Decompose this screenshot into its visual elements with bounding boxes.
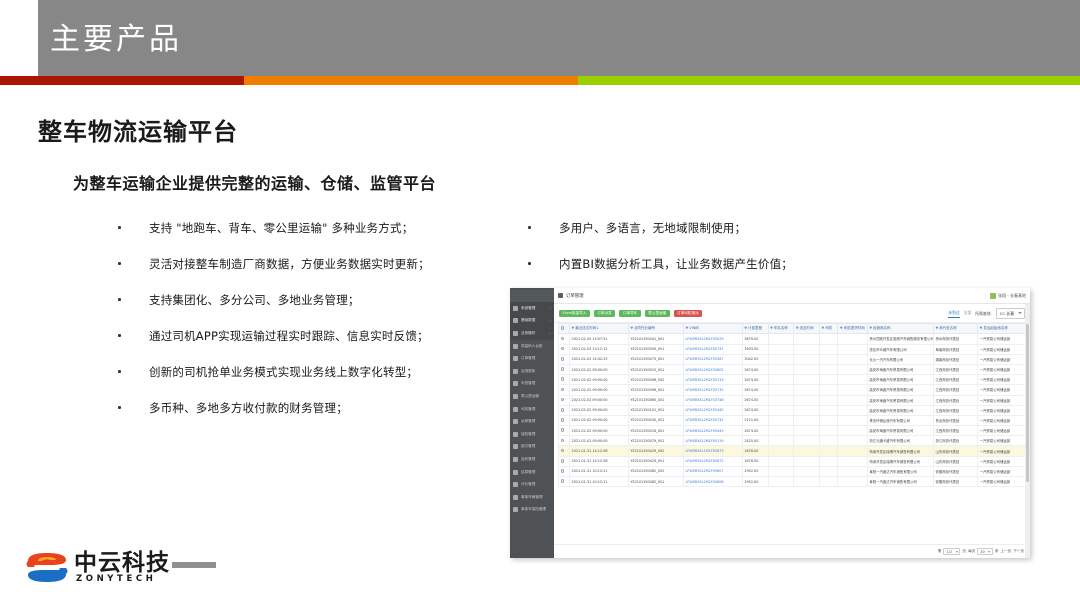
sidebar-group-0[interactable]: 系统管理‹ xyxy=(510,302,554,315)
row-select-cell[interactable] xyxy=(559,375,570,385)
cell-vin: LFWSRXSL2M1F05606 xyxy=(684,477,743,487)
zonytech-logo-icon xyxy=(26,552,68,583)
orders-table: ▼最近送达时间↓▼合同作业编号▼VIN码▼计费里程▼车队名称▼送至时间▼司机▼司… xyxy=(558,323,1026,487)
row-select-cell[interactable] xyxy=(559,344,570,354)
cell-empty xyxy=(838,385,867,395)
column-header-label: 最近送达时间↓ xyxy=(575,326,599,330)
slide-root: 主要产品 整车物流运输平台 为整车运输企业提供完整的运输、仓储、监管平台 支持 … xyxy=(0,0,1080,608)
cell-empty xyxy=(820,446,838,456)
bullet-text: 灵活对接整车制造厂商数据，方便业务数据实时更新； xyxy=(149,257,430,271)
table-row[interactable]: 2021-02-02 09:00:00YS2101250016_001LFWSR… xyxy=(559,426,1026,436)
cell-empty xyxy=(768,477,794,487)
table-row[interactable]: 2021-02-02 09:00:00YS2101250060_001LFWSR… xyxy=(559,395,1026,405)
row-select-cell[interactable] xyxy=(559,405,570,415)
select-all-header[interactable] xyxy=(559,324,570,334)
cell-dealer: 高安市海鑫汽车贸易有限公司 xyxy=(867,426,933,436)
cell-empty xyxy=(768,466,794,476)
tab-all[interactable]: 全部 xyxy=(964,310,972,318)
cell-vin: LFWSRXSL2M1F03602 xyxy=(684,364,743,374)
cell-contract: YS2101250429_002 xyxy=(628,446,683,456)
row-select-icon[interactable] xyxy=(561,377,565,381)
accent-bar-red xyxy=(0,76,244,85)
sidebar-item-7[interactable]: 保险管理 xyxy=(510,428,554,441)
cell-vin: LFWSRXSL2M1F03748 xyxy=(684,395,743,405)
filter-icon[interactable]: ▼ xyxy=(630,326,633,330)
sidebar-group-label: 业务操作 xyxy=(521,331,535,336)
app-screenshot: 系统管理‹基础数据‹业务操作⌄ 质量码人台账订单管理运堆更新车批管理零公里运输司… xyxy=(510,288,1030,558)
cell-time: 2021-02-05 15:07:51 xyxy=(570,334,629,344)
chevron-icon: ‹ xyxy=(550,319,551,323)
cell-empty xyxy=(820,364,838,374)
sidebar-item-2[interactable]: 运堆更新 xyxy=(510,365,554,378)
cell-empty xyxy=(838,456,867,466)
cell-contract: YS2101250096_001 xyxy=(628,385,683,395)
cell-empty xyxy=(768,364,794,374)
sidebar-item-label: 司机管理 xyxy=(521,407,535,412)
row-select-cell[interactable] xyxy=(559,436,570,446)
cell-empty xyxy=(838,415,867,425)
row-select-icon[interactable] xyxy=(561,357,565,361)
cell-empty xyxy=(838,334,867,344)
table-row[interactable]: 2021-02-02 09:00:00YS2101250101_001LFWSR… xyxy=(559,405,1026,415)
cell-km: 2674.00 xyxy=(742,426,768,436)
cell-km: 2674.00 xyxy=(742,395,768,405)
toolbar-button-1[interactable]: 订单派发 xyxy=(594,310,615,318)
sidebar-item-label: 质量码人台账 xyxy=(521,344,543,349)
cell-empty xyxy=(794,446,820,456)
sidebar-group-icon xyxy=(513,318,518,323)
bullet-dot xyxy=(118,370,121,373)
cell-contract: YS2101250016_001 xyxy=(628,426,683,436)
filter-icon[interactable]: ▼ xyxy=(980,326,983,330)
cell-agent: 安徽商务代表处 xyxy=(934,477,978,487)
filter-icon[interactable]: ▼ xyxy=(936,326,939,330)
sidebar-item-8[interactable]: 赔付管理 xyxy=(510,441,554,454)
cell-dealer: 高安市海鑫汽车贸易有限公司 xyxy=(867,364,933,374)
cell-vin: LFWSRXSL2M1F05449 xyxy=(684,426,743,436)
cell-dealer: 茂名市众威汽车有限公司 xyxy=(867,344,933,354)
sidebar-item-label: 运堆更新 xyxy=(521,369,535,374)
cell-vin: LFWSRXSL2M1F05440 xyxy=(684,405,743,415)
column-header-1[interactable]: ▼合同作业编号 xyxy=(628,324,683,334)
cell-agent: 江西商务代表处 xyxy=(934,375,978,385)
row-select-icon[interactable] xyxy=(561,367,565,371)
cell-time: 2021-02-02 09:00:00 xyxy=(570,426,629,436)
row-select-icon[interactable] xyxy=(561,418,565,422)
bullet-item: 内置BI数据分析工具，让业务数据产生价值； xyxy=(528,257,908,271)
sidebar-item-label: 保险管理 xyxy=(521,432,535,437)
sidebar-item-4[interactable]: 零公里运输 xyxy=(510,390,554,403)
table-row[interactable]: 2021-02-02 09:00:00YS2101250015_001LFWSR… xyxy=(559,364,1026,374)
cell-km: 1952.00 xyxy=(742,466,768,476)
sidebar-item-icon xyxy=(513,356,518,361)
toolbar-button-4[interactable]: 订单司机指派 xyxy=(674,310,703,318)
sidebar-item-11[interactable]: 评价管理 xyxy=(510,478,554,491)
pg-prefix: 第 xyxy=(938,549,942,554)
cell-time: 2021-02-03 14:32:25 xyxy=(570,354,629,364)
cell-km: 3042.00 xyxy=(742,354,768,364)
cell-origin: 一汽贸易公司储运部 xyxy=(978,415,1026,425)
cell-origin: 一汽贸易公司储运部 xyxy=(978,395,1026,405)
column-header-label: 司机提货时间 xyxy=(844,326,865,330)
column-header-label: 送至时间 xyxy=(800,326,814,330)
sidebar-item-label: 结算管理 xyxy=(521,470,535,475)
row-select-cell[interactable] xyxy=(559,426,570,436)
bullet-item: 灵活对接整车制造厂商数据，方便业务数据实时更新； xyxy=(118,257,498,271)
cell-dealer: 阜阳一汽鑫达汽车销售有限公司 xyxy=(867,477,933,487)
cell-dealer: 高安市海鑫汽车贸易有限公司 xyxy=(867,385,933,395)
avatar[interactable] xyxy=(990,293,996,299)
cell-empty xyxy=(794,364,820,374)
page-size-select[interactable]: 30 xyxy=(977,548,993,555)
column-header-0[interactable]: ▼最近送达时间↓ xyxy=(570,324,629,334)
cell-dealer: 菏泽开发区瑞博汽车销售有限公司 xyxy=(867,456,933,466)
filter-icon[interactable]: ▼ xyxy=(744,326,747,330)
cell-origin: 一汽贸易公司储运部 xyxy=(978,477,1026,487)
column-header-label: 司机 xyxy=(825,326,832,330)
bullet-item: 通过司机APP实现运输过程实时跟踪、信息实时反馈； xyxy=(118,329,498,343)
select-all-icon[interactable] xyxy=(561,326,565,330)
cell-empty xyxy=(794,354,820,364)
column-header-8[interactable]: ▼经销商名称 xyxy=(867,324,933,334)
row-select-icon[interactable] xyxy=(561,408,565,412)
cell-empty xyxy=(768,354,794,364)
cell-empty xyxy=(838,375,867,385)
row-select-cell[interactable] xyxy=(559,415,570,425)
tab-undelivered[interactable]: 未到达 xyxy=(948,310,959,318)
table-row[interactable]: 2021-02-03 14:32:25YS2101250475_001LFWSR… xyxy=(559,354,1026,364)
cell-vin: LFWSRXSL2M1F05587 xyxy=(684,354,743,364)
cell-dealer: 青岛环储弘驰汽车有限公司 xyxy=(867,415,933,425)
toolbar-button-3[interactable]: 零公里运输 xyxy=(645,310,670,318)
logo-text-cn: 中云科技 xyxy=(74,551,170,575)
cell-empty xyxy=(820,477,838,487)
cell-empty xyxy=(838,354,867,364)
row-select-icon[interactable] xyxy=(561,398,565,402)
sidebar-item-label: 运单管理 xyxy=(521,419,535,424)
cell-origin: 一汽贸易公司储运部 xyxy=(978,334,1026,344)
table-row[interactable]: 2021-02-05 15:07:51YS2101250041_001LFWSR… xyxy=(559,334,1026,344)
cell-empty xyxy=(794,466,820,476)
cell-contract: YS2101250430_001 xyxy=(628,415,683,425)
cell-agent: 山东商务代表处 xyxy=(934,446,978,456)
cell-empty xyxy=(768,415,794,425)
sidebar-item-icon xyxy=(513,444,518,449)
cell-empty xyxy=(768,405,794,415)
sidebar-item-icon xyxy=(513,495,518,500)
sidebar-item-9[interactable]: 返利管理 xyxy=(510,453,554,466)
bullet-dot xyxy=(118,262,121,265)
row-select-icon[interactable] xyxy=(561,449,565,453)
cell-km: 1952.00 xyxy=(742,477,768,487)
cell-km: 2674.00 xyxy=(742,385,768,395)
cell-agent: 鲁北商务代表处 xyxy=(934,415,978,425)
sidebar-item-label: 事故车保险管理 xyxy=(521,507,546,512)
cell-origin: 一汽贸易公司储运部 xyxy=(978,385,1026,395)
cell-time: 2021-01-31 10:12:21 xyxy=(570,466,629,476)
cell-contract: YS2101250059_001 xyxy=(628,344,683,354)
cell-km: 2674.00 xyxy=(742,375,768,385)
cell-time: 2021-02-02 09:00:00 xyxy=(570,375,629,385)
app-sidebar: 系统管理‹基础数据‹业务操作⌄ 质量码人台账订单管理运堆更新车批管理零公里运输司… xyxy=(510,288,554,558)
column-header-label: VIN码 xyxy=(689,326,699,330)
app-toolbar: Excel批量导入订单派发订单导车零公里运输订单司机指派 未到达 全部 所属基地… xyxy=(554,304,1030,323)
filter-icon[interactable]: ▼ xyxy=(840,326,843,330)
cell-origin: 一汽贸易公司储运部 xyxy=(978,436,1026,446)
cell-time: 2021-01-31 10:12:21 xyxy=(570,477,629,487)
cell-empty xyxy=(794,405,820,415)
cell-dealer: 贵州顶致开发区旭照汽车销售服务有限公司 xyxy=(867,334,933,344)
sidebar-item-1[interactable]: 订单管理 xyxy=(510,352,554,365)
cell-empty xyxy=(794,395,820,405)
cell-origin: 一汽贸易公司储运部 xyxy=(978,456,1026,466)
pg-mid: 页, 每页 xyxy=(962,549,975,554)
column-header-label: 经销商名称 xyxy=(873,326,891,330)
cell-empty xyxy=(794,436,820,446)
table-row[interactable]: 2021-01-31 14:12:58YS2101250429_001LFWSR… xyxy=(559,456,1026,466)
cell-vin: LFWSRXSL2M1F05119 xyxy=(684,436,743,446)
bullet-text: 内置BI数据分析工具，让业务数据产生价值； xyxy=(559,257,793,271)
vertical-scrollbar[interactable] xyxy=(1025,304,1030,558)
sidebar-item-icon xyxy=(513,394,518,399)
cell-dealer: 阜阳一汽鑫达汽车销售有限公司 xyxy=(867,466,933,476)
sidebar-item-icon xyxy=(513,470,518,475)
cell-empty xyxy=(794,426,820,436)
app-topbar: 订单管理 张翔 - 长春基地 xyxy=(554,288,1030,304)
filter-icon[interactable]: ▼ xyxy=(796,326,799,330)
cell-empty xyxy=(838,446,867,456)
sidebar-item-3[interactable]: 车批管理 xyxy=(510,378,554,391)
cell-km: 1678.00 xyxy=(742,446,768,456)
bullet-text: 创新的司机抢单业务模式实现业务线上数字化转型； xyxy=(149,365,418,379)
section-title: 整车物流运输平台 xyxy=(38,112,238,147)
sidebar-item-13[interactable]: 事故车保险管理 xyxy=(510,504,554,517)
app-main: 订单管理 张翔 - 长春基地 Excel批量导入订单派发订单导车零公里运输订单司… xyxy=(554,288,1030,558)
cell-contract: YS2101250015_001 xyxy=(628,364,683,374)
cell-empty xyxy=(820,375,838,385)
cell-agent: 粤南商务代表处 xyxy=(934,344,978,354)
sidebar-item-icon xyxy=(513,482,518,487)
sidebar-item-12[interactable]: 事故车辆管理 xyxy=(510,491,554,504)
cell-vin: LFWSRXSL1M1F05873 xyxy=(684,446,743,456)
cell-time: 2021-02-02 09:00:00 xyxy=(570,405,629,415)
page-title: 主要产品 xyxy=(50,20,182,60)
sidebar-item-10[interactable]: 结算管理 xyxy=(510,466,554,479)
table-row[interactable]: 2021-02-02 09:00:00YS2101250096_001LFWSR… xyxy=(559,385,1026,395)
sidebar-group-label: 系统管理 xyxy=(521,306,535,311)
cell-origin: 一汽贸易公司储运部 xyxy=(978,405,1026,415)
row-select-cell[interactable] xyxy=(559,334,570,344)
toolbar-button-0[interactable]: Excel批量导入 xyxy=(559,310,590,318)
sidebar-item-icon xyxy=(513,457,518,462)
table-row[interactable]: 2021-02-02 09:00:00YS2101250079_001LFWSR… xyxy=(559,436,1026,446)
row-select-icon[interactable] xyxy=(561,479,565,483)
sidebar-item-icon xyxy=(513,419,518,424)
sidebar-item-label: 事故车辆管理 xyxy=(521,495,543,500)
column-header-5[interactable]: ▼送至时间 xyxy=(794,324,820,334)
column-header-10[interactable]: ▼发运起始地名称 xyxy=(978,324,1026,334)
cell-empty xyxy=(768,426,794,436)
row-select-icon[interactable] xyxy=(561,459,565,463)
cell-vin: LFWSRXSL2M1F05731 xyxy=(684,344,743,354)
cell-empty xyxy=(820,334,838,344)
cell-agent: 山东商务代表处 xyxy=(934,456,978,466)
table-row[interactable]: 2021-02-03 13:12:11YS2101250059_001LFWSR… xyxy=(559,344,1026,354)
sidebar-group-2[interactable]: 业务操作⌄ xyxy=(510,327,554,340)
table-row[interactable]: 2021-01-31 10:12:21YS2101250082_001LFWSR… xyxy=(559,477,1026,487)
bullet-item: 支持集团化、多分公司、多地业务管理； xyxy=(118,293,498,307)
cell-origin: 一汽贸易公司储运部 xyxy=(978,354,1026,364)
cell-origin: 一汽贸易公司储运部 xyxy=(978,446,1026,456)
cell-vin: LFWSRXSL2M1F05029 xyxy=(684,334,743,344)
cell-time: 2021-02-02 09:00:00 xyxy=(570,364,629,374)
cell-agent: 贵州商务代表处 xyxy=(934,334,978,344)
column-header-6[interactable]: ▼司机 xyxy=(820,324,838,334)
toolbar-button-2[interactable]: 订单导车 xyxy=(619,310,640,318)
column-header-2[interactable]: ▼VIN码 xyxy=(684,324,743,334)
cell-vin: LFWSRXSL2M1F03732 xyxy=(684,385,743,395)
cell-time: 2021-02-02 09:00:00 xyxy=(570,436,629,446)
cell-empty xyxy=(820,385,838,395)
row-select-icon[interactable] xyxy=(561,337,565,341)
cell-contract: YS2101250060_001 xyxy=(628,395,683,405)
row-select-icon[interactable] xyxy=(561,439,565,443)
sidebar-item-icon xyxy=(513,344,518,349)
cell-km: 3679.00 xyxy=(742,334,768,344)
table-row[interactable]: 2021-01-31 10:12:21YS2101250082_002LFWSR… xyxy=(559,466,1026,476)
cell-vin: LFWSRXSL2M1F03733 xyxy=(684,375,743,385)
cell-agent: 江西商务代表处 xyxy=(934,364,978,374)
row-select-cell[interactable] xyxy=(559,364,570,374)
cell-empty xyxy=(838,466,867,476)
cell-agent: 江西商务代表处 xyxy=(934,385,978,395)
scrollbar-thumb[interactable] xyxy=(1026,324,1030,481)
bullet-dot xyxy=(528,226,531,229)
cell-empty xyxy=(838,364,867,374)
cell-empty xyxy=(820,395,838,405)
row-select-cell[interactable] xyxy=(559,395,570,405)
cell-dealer: 高安市海鑫汽车贸易有限公司 xyxy=(867,395,933,405)
table-row[interactable]: 2021-02-02 09:00:00YS2101250430_001LFWSR… xyxy=(559,415,1026,425)
cell-time: 2021-02-03 13:12:11 xyxy=(570,344,629,354)
sidebar-group-1[interactable]: 基础数据‹ xyxy=(510,315,554,328)
cell-agent: 湖南商务代表处 xyxy=(934,354,978,364)
row-select-cell[interactable] xyxy=(559,456,570,466)
sidebar-group-icon xyxy=(513,331,518,336)
cell-empty xyxy=(820,405,838,415)
cell-empty xyxy=(820,466,838,476)
bullet-dot xyxy=(118,226,121,229)
bullet-text: 支持 "地跑车、背车、零公里运输" 多种业务方式； xyxy=(149,221,413,235)
row-select-cell[interactable] xyxy=(559,354,570,364)
column-header-label: 商代处名称 xyxy=(939,326,957,330)
sidebar-item-5[interactable]: 司机管理 xyxy=(510,403,554,416)
cell-km: 3903.00 xyxy=(742,344,768,354)
menu-icon[interactable] xyxy=(558,293,563,298)
prev-page-button[interactable]: 上一页 xyxy=(1000,549,1011,554)
cell-origin: 一汽贸易公司储运部 xyxy=(978,375,1026,385)
column-header-4[interactable]: ▼车队名称 xyxy=(768,324,794,334)
row-select-cell[interactable] xyxy=(559,385,570,395)
sidebar-group-label: 基础数据 xyxy=(521,318,535,323)
cell-agent: 江西商务代表处 xyxy=(934,426,978,436)
filter-icon[interactable]: ▼ xyxy=(770,326,773,330)
logo-text-en: ZONYTECH xyxy=(76,575,156,584)
filter-icon[interactable]: ▼ xyxy=(869,326,872,330)
section-subtitle: 为整车运输企业提供完整的运输、仓储、监管平台 xyxy=(73,170,436,194)
bullet-dot xyxy=(528,262,531,265)
bullet-list-left: 支持 "地跑车、背车、零公里运输" 多种业务方式；灵活对接整车制造厂商数据，方便… xyxy=(118,221,498,437)
base-filter-label: 所属基地: xyxy=(975,311,991,317)
table-header-row: ▼最近送达时间↓▼合同作业编号▼VIN码▼计费里程▼车队名称▼送至时间▼司机▼司… xyxy=(559,324,1026,334)
row-select-cell[interactable] xyxy=(559,446,570,456)
cell-empty xyxy=(820,436,838,446)
cell-time: 2021-02-02 09:00:00 xyxy=(570,415,629,425)
page-select[interactable]: 1/2 xyxy=(943,548,960,555)
accent-bar-orange xyxy=(244,76,578,85)
row-select-icon[interactable] xyxy=(561,469,565,473)
cell-empty xyxy=(794,344,820,354)
column-header-label: 计费里程 xyxy=(748,326,762,330)
sidebar-item-label: 返利管理 xyxy=(521,457,535,462)
column-header-9[interactable]: ▼商代处名称 xyxy=(934,324,978,334)
cell-empty xyxy=(768,334,794,344)
user-menu[interactable]: 张翔 - 长春基地 xyxy=(998,293,1026,299)
cell-agent: 浙江商务代表处 xyxy=(934,436,978,446)
cell-time: 2021-02-02 09:00:00 xyxy=(570,385,629,395)
cell-time: 2021-01-31 14:12:58 xyxy=(570,446,629,456)
cell-empty xyxy=(838,436,867,446)
cell-empty xyxy=(794,385,820,395)
cell-origin: 一汽贸易公司储运部 xyxy=(978,426,1026,436)
cell-empty xyxy=(820,426,838,436)
sidebar-item-6[interactable]: 运单管理 xyxy=(510,415,554,428)
bullet-dot xyxy=(118,406,121,409)
header-left-gap xyxy=(0,0,38,76)
bullet-text: 多币种、多地多方收付款的财务管理； xyxy=(149,401,348,415)
app-title: 订单管理 xyxy=(566,293,584,299)
cell-km: 2425.00 xyxy=(742,436,768,446)
column-header-3[interactable]: ▼计费里程 xyxy=(742,324,768,334)
column-header-label: 合同作业编号 xyxy=(634,326,655,330)
sidebar-item-icon xyxy=(513,381,518,386)
sidebar-item-icon xyxy=(513,432,518,437)
row-select-icon[interactable] xyxy=(561,428,565,432)
base-filter-select[interactable]: CC-长春 xyxy=(996,308,1025,319)
filter-icon[interactable]: ▼ xyxy=(686,326,689,330)
row-select-cell[interactable] xyxy=(559,466,570,476)
sidebar-group-icon xyxy=(513,306,518,311)
row-select-icon[interactable] xyxy=(561,347,565,351)
sidebar-item-0[interactable]: 质量码人台账 xyxy=(510,340,554,353)
table-row[interactable]: 2021-02-02 09:00:00YS2101250096_002LFWSR… xyxy=(559,375,1026,385)
cell-dealer: 长沙一汽汽车有限公司 xyxy=(867,354,933,364)
bullet-item: 多币种、多地多方收付款的财务管理； xyxy=(118,401,498,415)
next-page-button[interactable]: 下一页 xyxy=(1013,549,1024,554)
column-header-label: 发运起始地名称 xyxy=(983,326,1008,330)
cell-empty xyxy=(838,405,867,415)
cell-empty xyxy=(768,395,794,405)
column-header-7[interactable]: ▼司机提货时间 xyxy=(838,324,867,334)
cell-empty xyxy=(820,456,838,466)
filter-icon[interactable]: ▼ xyxy=(572,326,575,330)
table-row[interactable]: 2021-01-31 14:12:58YS2101250429_002LFWSR… xyxy=(559,446,1026,456)
cell-dealer: 高安市海鑫汽车贸易有限公司 xyxy=(867,375,933,385)
sidebar-item-label: 零公里运输 xyxy=(521,394,539,399)
filter-icon[interactable]: ▼ xyxy=(822,326,825,330)
row-select-icon[interactable] xyxy=(561,388,565,392)
row-select-cell[interactable] xyxy=(559,477,570,487)
